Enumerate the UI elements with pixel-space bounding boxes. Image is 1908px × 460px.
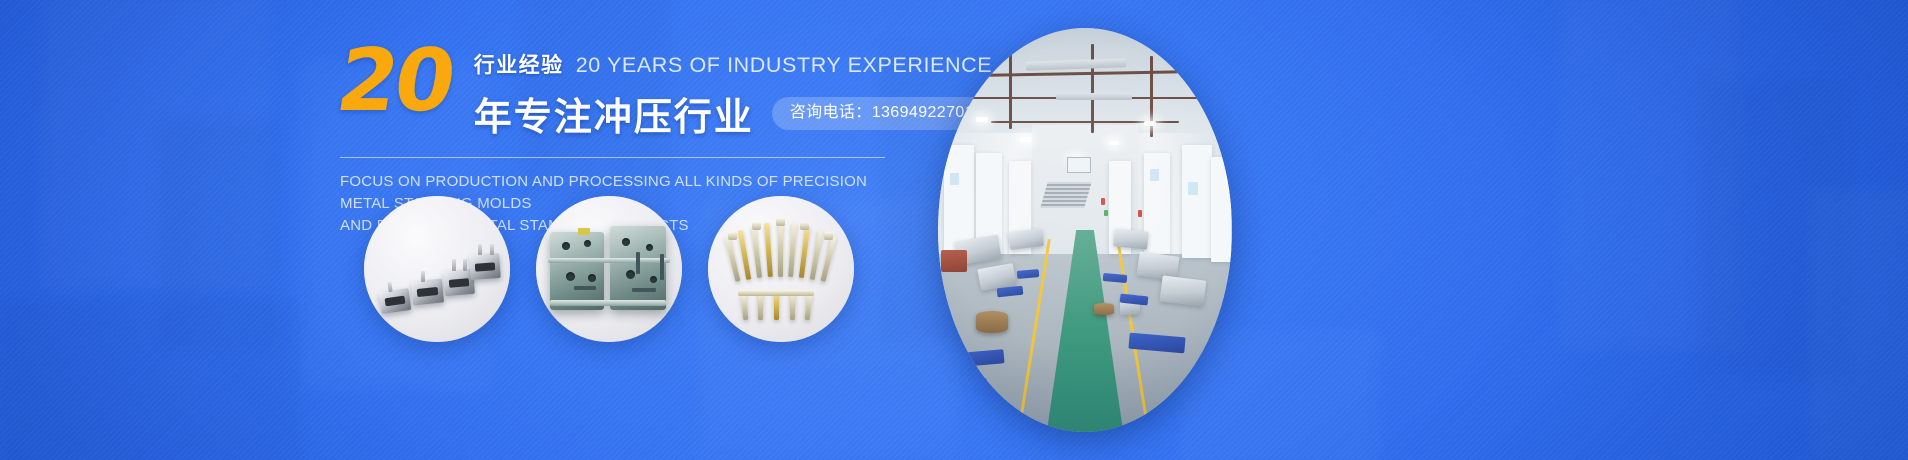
mold-slot — [636, 252, 640, 274]
headline-cn-main: 年专注冲压行业 — [474, 86, 754, 141]
product-circle-connector-shells[interactable] — [364, 196, 510, 342]
terminal-pin-head — [738, 290, 814, 296]
mold-yellow-marker — [578, 228, 590, 235]
headline-line-two: 年专注冲压行业 咨询电话：13694922701 — [474, 86, 992, 141]
terminal-pin — [790, 292, 795, 320]
connector-leg — [452, 259, 456, 271]
product-circle-stamping-mold[interactable] — [536, 196, 682, 342]
connector-shell-part — [469, 253, 501, 280]
mold-body-left — [550, 232, 604, 310]
connector-leg — [490, 244, 494, 255]
mold-hole — [646, 244, 653, 251]
terminal-pin-head — [728, 232, 737, 240]
headline-line-one: 行业经验 20 YEARS OF INDUSTRY EXPERIENCE — [474, 49, 992, 79]
terminal-pin-head — [776, 218, 785, 226]
headline-cn-subtitle: 行业经验 — [474, 49, 564, 79]
terminal-pin-head — [752, 222, 761, 230]
mold-hole — [566, 272, 575, 281]
connector-leg — [421, 271, 425, 282]
promotional-banner: 20 行业经验 20 YEARS OF INDUSTRY EXPERIENCE … — [0, 0, 1908, 460]
mold-slot — [574, 286, 596, 290]
terminal-pin — [758, 292, 763, 320]
mold-hole — [650, 276, 657, 283]
mold-rail — [548, 258, 670, 263]
photo-shading — [938, 28, 1232, 432]
product-circle-terminal-pins[interactable] — [708, 196, 854, 342]
years-number: 20 — [332, 42, 458, 122]
mold-hole — [588, 274, 596, 282]
terminal-pin-head — [800, 222, 809, 230]
mold-hole — [626, 270, 635, 279]
terminal-pin — [778, 222, 783, 277]
connector-leg — [463, 259, 467, 271]
terminal-pin-head — [824, 232, 833, 240]
connector-leg — [478, 244, 482, 255]
connector-shell-part — [379, 288, 412, 314]
headline-en-subtitle: 20 YEARS OF INDUSTRY EXPERIENCE — [576, 53, 992, 78]
mold-hole — [584, 240, 591, 247]
headline-divider — [340, 157, 885, 158]
mold-hole — [562, 242, 570, 250]
headline-text-group: 行业经验 20 YEARS OF INDUSTRY EXPERIENCE 年专注… — [474, 40, 992, 141]
terminal-pin — [774, 292, 779, 320]
connector-shell-part — [411, 278, 444, 305]
mold-slot — [632, 288, 656, 292]
mold-hole — [622, 238, 630, 246]
mold-rail — [550, 300, 666, 306]
headline-row: 20 行业经验 20 YEARS OF INDUSTRY EXPERIENCE … — [338, 40, 898, 141]
mold-slot — [660, 254, 664, 280]
factory-photo-circle[interactable] — [938, 28, 1232, 432]
